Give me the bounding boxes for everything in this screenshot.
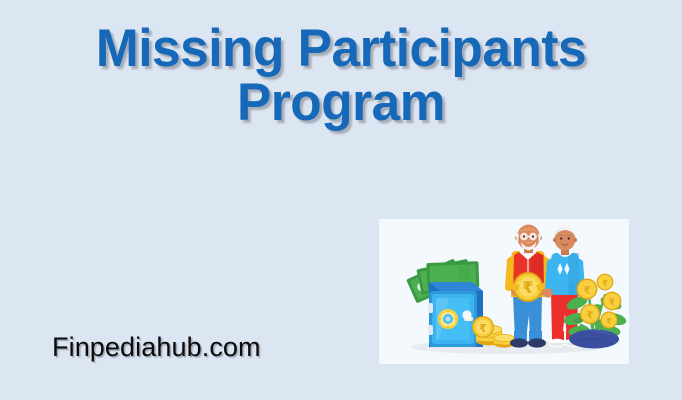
page-title: Missing Participants Program	[10, 22, 672, 130]
svg-text:₹: ₹	[602, 279, 608, 288]
retirement-savings-illustration: ₹	[379, 219, 629, 364]
svg-text:₹: ₹	[479, 322, 487, 335]
svg-text:₹: ₹	[522, 278, 533, 297]
svg-text:₹: ₹	[587, 310, 594, 321]
banner-canvas: Missing Participants Program Finpediahub…	[0, 0, 682, 400]
site-name-label: Finpediahub.com	[52, 332, 261, 363]
svg-text:₹: ₹	[584, 286, 591, 297]
svg-text:₹: ₹	[609, 298, 615, 308]
page-title-line-2: Program	[10, 76, 672, 130]
safe-icon	[428, 282, 483, 347]
rupee-coin-small: ₹	[472, 316, 494, 338]
page-title-line-1: Missing Participants	[10, 22, 672, 76]
illustration-svg: ₹	[379, 219, 629, 364]
svg-text:₹: ₹	[606, 317, 612, 326]
